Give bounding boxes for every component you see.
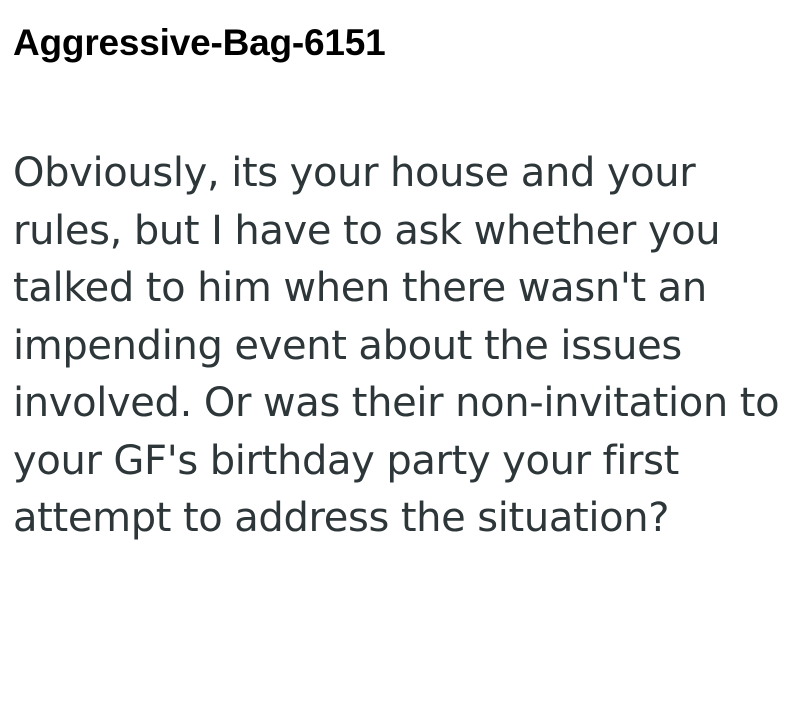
post-container: Aggressive-Bag-6151 Obviously, its your … [0,0,800,702]
post-author-title: Aggressive-Bag-6151 [13,18,386,68]
post-body-text: Obviously, its your house and your rules… [13,145,797,548]
